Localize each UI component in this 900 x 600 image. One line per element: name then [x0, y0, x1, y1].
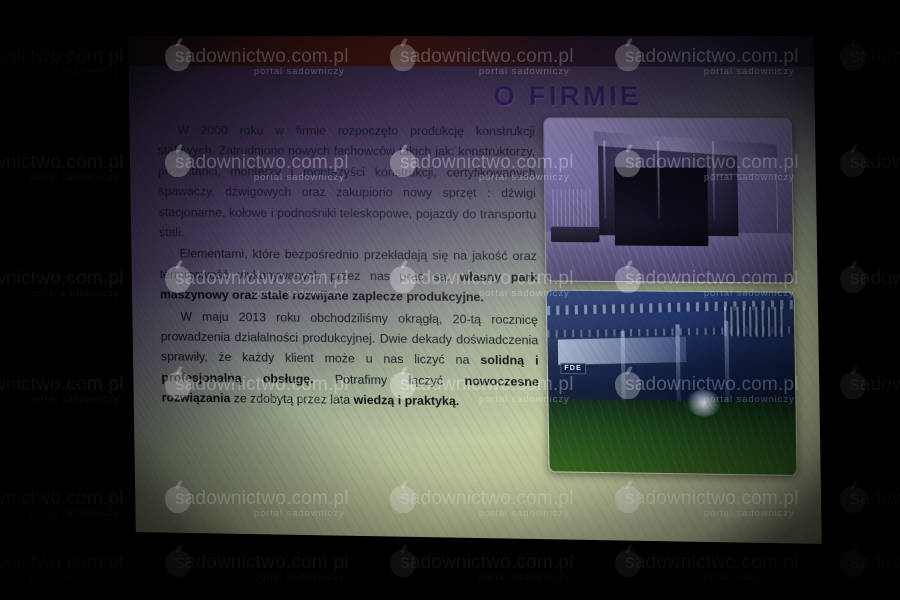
slide-photo-exterior [543, 117, 795, 283]
watermark-tile: sadownictwo.com.plportal sadowniczy [0, 152, 124, 183]
apple-icon [840, 150, 866, 177]
watermark-text: sadownictwo.com.pl [615, 552, 799, 574]
watermark-subtext: portal sadowniczy [840, 288, 900, 299]
watermark-text: sadownictwo.com.pl [0, 488, 124, 510]
watermark-subtext: portal sadowniczy [840, 508, 900, 519]
photo-steel-frame [711, 174, 777, 231]
watermark-text: sadownictwo.com.pl [0, 552, 124, 574]
watermark-tile: sadownictwo.com.plportal sadowniczy [840, 152, 900, 183]
apple-icon [615, 550, 641, 577]
text-run: Potrafimy łączyć [313, 372, 464, 388]
watermark-subtext: portal sadowniczy [840, 172, 900, 183]
watermark-tile: sadownictwo.com.plportal sadowniczy [390, 552, 574, 583]
bold-run: wiedzą i praktyką. [354, 393, 460, 408]
watermark-tile: sadownictwo.com.plportal sadowniczy [840, 268, 900, 299]
watermark-tile: sadownictwo.com.plportal sadowniczy [840, 552, 900, 583]
watermark-text: sadownictwo.com.pl [840, 374, 900, 396]
photo-floor [548, 399, 796, 475]
apple-icon [840, 266, 866, 293]
watermark-tile: sadownictwo.com.plportal sadowniczy [0, 46, 124, 77]
watermark-text: sadownictwo.com.pl [165, 552, 349, 574]
watermark-tile: sadownictwo.com.plportal sadowniczy [840, 488, 900, 519]
paragraph-2: Elementami, które bezpośrednio przekłada… [159, 244, 537, 309]
watermark-tile: sadownictwo.com.plportal sadowniczy [0, 374, 124, 405]
photo-hall-door [613, 167, 708, 246]
watermark-subtext: portal sadowniczy [390, 572, 574, 583]
watermark-text: sadownictwo.com.pl [0, 152, 124, 174]
watermark-tile: sadownictwo.com.plportal sadowniczy [0, 268, 124, 299]
text-run: W 2000 roku w firmie rozpoczęto produkcj… [158, 123, 537, 239]
paragraph-1: W 2000 roku w firmie rozpoczęto produkcj… [157, 120, 536, 245]
watermark-text: sadownictwo.com.pl [840, 46, 900, 68]
slide-header-faint-text [431, 48, 772, 67]
photo-vehicle [551, 227, 600, 242]
watermark-text: sadownictwo.com.pl [840, 268, 900, 290]
text-run: ze zdobytą przez lata [230, 392, 354, 408]
watermark-subtext: portal sadowniczy [840, 394, 900, 405]
photo-sign-label: FDE [560, 363, 586, 374]
watermark-text: sadownictwo.com.pl [390, 552, 574, 574]
watermark-subtext: portal sadowniczy [0, 572, 124, 583]
apple-icon [390, 550, 416, 577]
watermark-subtext: portal sadowniczy [0, 394, 124, 405]
apple-icon [840, 372, 866, 399]
watermark-text: sadownictwo.com.pl [0, 374, 124, 396]
watermark-text: sadownictwo.com.pl [0, 268, 124, 290]
watermark-tile: sadownictwo.com.plportal sadowniczy [615, 552, 799, 583]
projection-screen: O FIRMIE W 2000 roku w firmie rozpoczęto… [128, 36, 822, 544]
slide-photo-interior: FDE [546, 290, 798, 476]
watermark-tile: sadownictwo.com.plportal sadowniczy [840, 374, 900, 405]
watermark-tile: sadownictwo.com.plportal sadowniczy [0, 552, 124, 583]
photo-ceiling-rack [724, 307, 784, 337]
slide-title: O FIRMIE [493, 81, 642, 113]
watermark-subtext: portal sadowniczy [0, 288, 124, 299]
watermark-text: sadownictwo.com.pl [840, 552, 900, 574]
watermark-text: sadownictwo.com.pl [0, 46, 124, 68]
watermark-text: sadownictwo.com.pl [840, 152, 900, 174]
apple-icon [840, 44, 866, 71]
watermark-subtext: portal sadowniczy [165, 572, 349, 583]
slide-body-text: W 2000 roku w firmie rozpoczęto produkcj… [157, 120, 539, 414]
watermark-subtext: portal sadowniczy [0, 66, 124, 77]
watermark-tile: sadownictwo.com.plportal sadowniczy [0, 488, 124, 519]
watermark-text: sadownictwo.com.pl [840, 488, 900, 510]
apple-icon [165, 550, 191, 577]
watermark-tile: sadownictwo.com.plportal sadowniczy [165, 552, 349, 583]
watermark-tile: sadownictwo.com.plportal sadowniczy [840, 46, 900, 77]
photo-material-stack [552, 190, 592, 226]
apple-icon [840, 486, 866, 513]
apple-icon [840, 550, 866, 577]
paragraph-3: W maju 2013 roku obchodziliśmy okrągłą, … [160, 306, 539, 413]
photographed-slide-scene: O FIRMIE W 2000 roku w firmie rozpoczęto… [0, 0, 900, 600]
watermark-subtext: portal sadowniczy [0, 508, 124, 519]
presentation-slide: O FIRMIE W 2000 roku w firmie rozpoczęto… [128, 36, 822, 544]
watermark-subtext: portal sadowniczy [0, 172, 124, 183]
watermark-subtext: portal sadowniczy [840, 572, 900, 583]
watermark-subtext: portal sadowniczy [840, 66, 900, 77]
watermark-subtext: portal sadowniczy [615, 572, 799, 583]
